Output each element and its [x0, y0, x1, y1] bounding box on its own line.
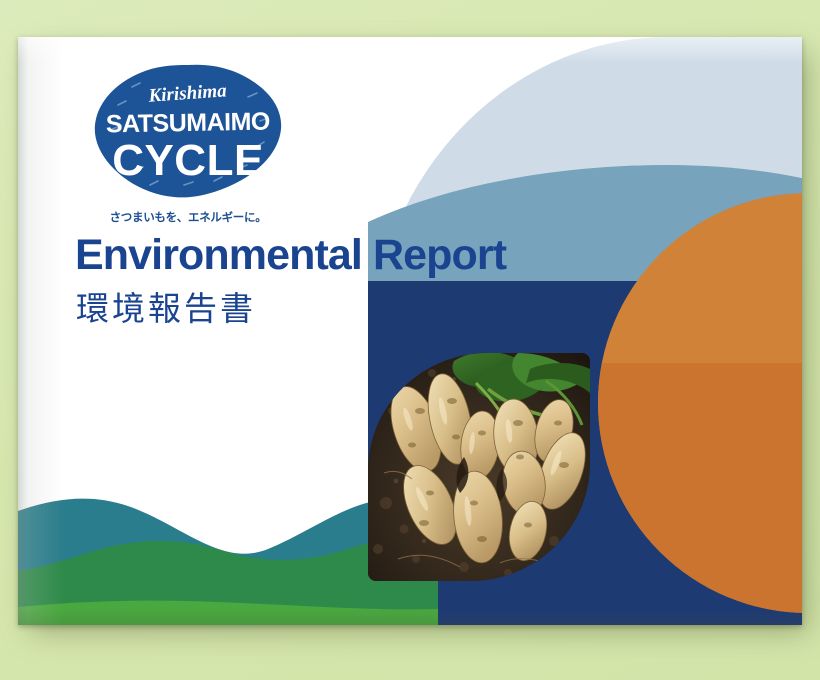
logo-svg: Kirishima SATSUMAIMO CYCLE [88, 59, 288, 209]
satsumaimo-cycle-logo: Kirishima SATSUMAIMO CYCLE [88, 59, 288, 209]
cover-title-english: Environmental Report [75, 231, 506, 280]
page-root: Kirishima SATSUMAIMO CYCLE さつまいもを、エネルギーに… [0, 0, 820, 680]
cover-inner: Kirishima SATSUMAIMO CYCLE さつまいもを、エネルギーに… [18, 37, 802, 625]
cover-title-japanese: 環境報告書 [76, 282, 256, 330]
logo-tagline: さつまいもを、エネルギーに。 [88, 209, 288, 225]
logo-line1: SATSUMAIMO [106, 108, 270, 139]
report-cover: Kirishima SATSUMAIMO CYCLE さつまいもを、エネルギーに… [18, 37, 802, 625]
logo-line2: CYCLE [112, 136, 264, 185]
